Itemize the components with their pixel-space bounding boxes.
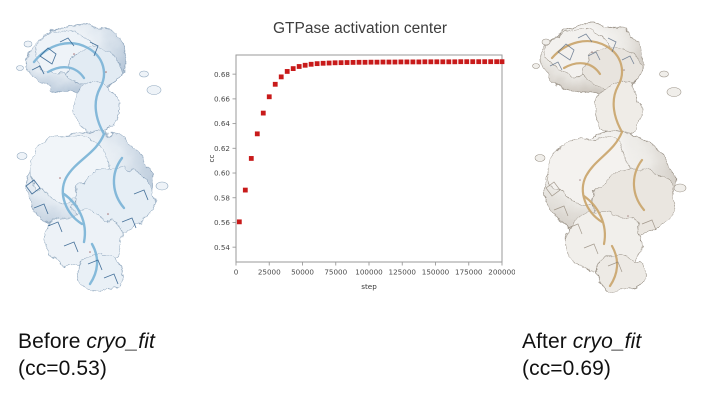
data-point [243, 188, 247, 192]
data-point [351, 61, 355, 65]
data-point [345, 61, 349, 65]
svg-text:0: 0 [234, 268, 239, 277]
data-point [417, 60, 421, 64]
data-point [483, 60, 487, 64]
data-point [423, 60, 427, 64]
after-cryo-fit-structure-image [518, 8, 714, 318]
svg-text:75000: 75000 [324, 268, 347, 277]
svg-text:0.68: 0.68 [214, 70, 230, 79]
data-point [255, 132, 259, 136]
svg-text:150000: 150000 [422, 268, 450, 277]
data-point [297, 65, 301, 69]
data-point [333, 61, 337, 65]
data-point [465, 60, 469, 64]
data-point [411, 60, 415, 64]
svg-text:0.54: 0.54 [214, 243, 230, 252]
data-point [393, 60, 397, 64]
svg-text:175000: 175000 [455, 268, 483, 277]
data-point [453, 60, 457, 64]
data-point [315, 62, 319, 66]
data-point [447, 60, 451, 64]
svg-text:0.60: 0.60 [214, 169, 230, 178]
data-point [441, 60, 445, 64]
caption-before-prefix: Before [18, 330, 86, 353]
before-cryo-fit-structure-image [4, 8, 200, 318]
svg-text:0.56: 0.56 [214, 218, 230, 227]
cc-vs-step-chart: GTPase activation center 0.540.560.580.6… [205, 12, 515, 302]
after-structure-render [518, 8, 714, 318]
data-point [321, 61, 325, 65]
caption-after-prefix: After [522, 330, 573, 353]
chart-plot-area: 0.540.560.580.600.620.640.660.6802500050… [205, 12, 515, 302]
data-point [249, 157, 253, 161]
data-point [375, 60, 379, 64]
svg-text:cc: cc [207, 155, 216, 163]
data-point [405, 60, 409, 64]
svg-text:125000: 125000 [389, 268, 417, 277]
caption-before-cc: (cc=0.53) [18, 355, 155, 382]
svg-text:0.58: 0.58 [214, 193, 230, 202]
data-point [339, 61, 343, 65]
svg-text:25000: 25000 [258, 268, 281, 277]
data-point [495, 60, 499, 64]
data-point [279, 75, 283, 79]
svg-text:0.62: 0.62 [214, 144, 230, 153]
data-point [369, 60, 373, 64]
data-point [273, 82, 277, 86]
caption-after-cryo-fit: After cryo_fit (cc=0.69) [522, 328, 641, 382]
data-point [309, 62, 313, 66]
data-point [363, 60, 367, 64]
data-point [381, 60, 385, 64]
caption-after-emphasis: cryo_fit [573, 330, 642, 353]
data-point [489, 60, 493, 64]
data-point [285, 70, 289, 74]
data-point [387, 60, 391, 64]
svg-text:50000: 50000 [291, 268, 314, 277]
data-point [303, 63, 307, 67]
before-structure-render [4, 8, 200, 318]
data-point [291, 67, 295, 71]
data-point [435, 60, 439, 64]
data-point [459, 60, 463, 64]
data-point [261, 111, 265, 115]
data-point [357, 60, 361, 64]
data-point [237, 220, 241, 224]
data-point [399, 60, 403, 64]
svg-text:0.66: 0.66 [214, 94, 230, 103]
caption-before-cryo-fit: Before cryo_fit (cc=0.53) [18, 328, 155, 382]
data-point [471, 60, 475, 64]
data-point [267, 95, 271, 99]
svg-text:200000: 200000 [488, 268, 515, 277]
svg-text:0.64: 0.64 [214, 119, 230, 128]
caption-before-emphasis: cryo_fit [86, 330, 155, 353]
svg-text:100000: 100000 [355, 268, 383, 277]
data-point [500, 60, 504, 64]
data-point [327, 61, 331, 65]
data-point [477, 60, 481, 64]
svg-text:step: step [361, 282, 377, 291]
caption-after-cc: (cc=0.69) [522, 355, 641, 382]
data-point [429, 60, 433, 64]
